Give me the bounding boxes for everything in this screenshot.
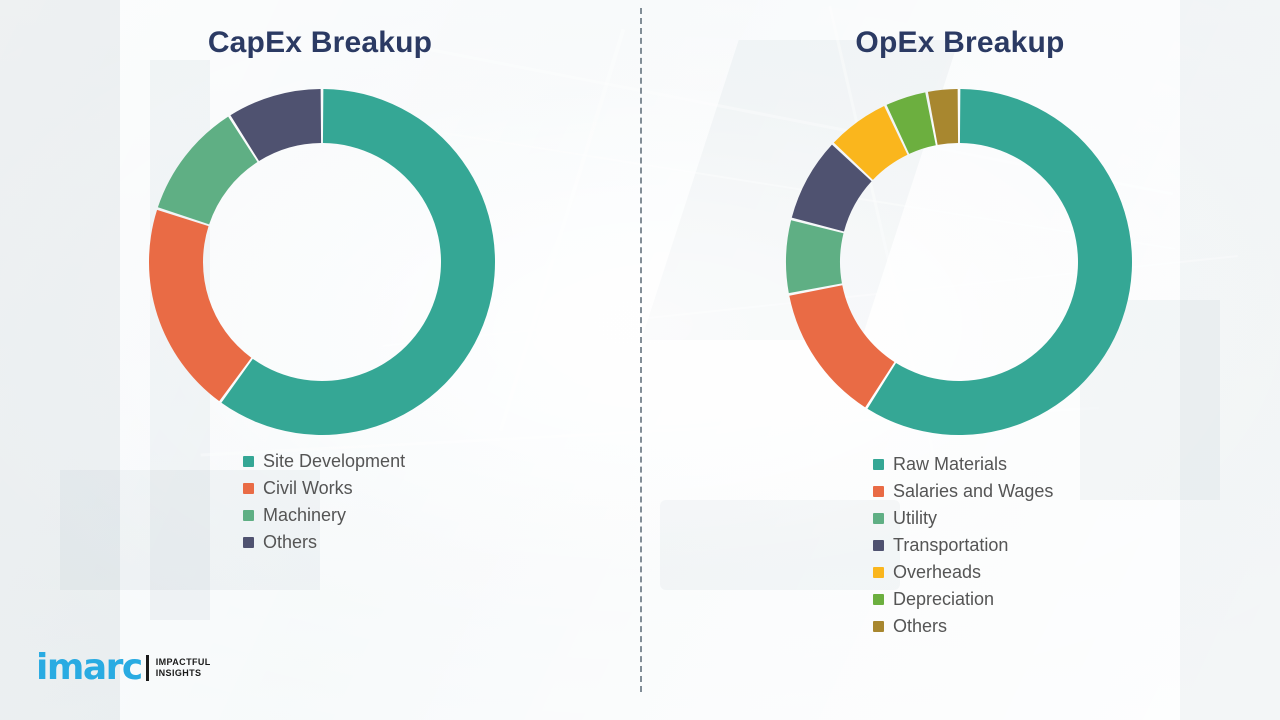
- legend-swatch-icon: [873, 513, 884, 524]
- legend-label: Raw Materials: [893, 453, 1007, 475]
- opex-chart-title: OpEx Breakup: [640, 26, 1280, 60]
- legend-label: Machinery: [263, 504, 346, 526]
- legend-item[interactable]: Civil Works: [243, 477, 405, 499]
- legend-swatch-icon: [873, 459, 884, 470]
- legend-item[interactable]: Others: [873, 615, 1053, 637]
- opex-donut-chart: [785, 88, 1133, 436]
- logo-wordmark: imarc: [36, 650, 142, 686]
- legend-swatch-icon: [873, 486, 884, 497]
- legend-item[interactable]: Machinery: [243, 504, 405, 526]
- legend-item[interactable]: Depreciation: [873, 588, 1053, 610]
- legend-item[interactable]: Site Development: [243, 450, 405, 472]
- legend-label: Civil Works: [263, 477, 353, 499]
- opex-slice-group: [786, 89, 1132, 435]
- legend-label: Depreciation: [893, 588, 994, 610]
- logo-tagline-line1: IMPACTFUL: [156, 657, 211, 668]
- capex-donut-chart: [148, 88, 496, 436]
- legend-swatch-icon: [873, 621, 884, 632]
- legend-swatch-icon: [243, 537, 254, 548]
- legend-swatch-icon: [243, 483, 254, 494]
- legend-swatch-icon: [873, 567, 884, 578]
- opex-donut-svg: [785, 88, 1133, 436]
- legend-item[interactable]: Utility: [873, 507, 1053, 529]
- legend-label: Others: [263, 531, 317, 553]
- legend-label: Utility: [893, 507, 937, 529]
- legend-label: Others: [893, 615, 947, 637]
- logo-divider-icon: [146, 655, 149, 681]
- legend-item[interactable]: Others: [243, 531, 405, 553]
- legend-item[interactable]: Raw Materials: [873, 453, 1053, 475]
- legend-label: Overheads: [893, 561, 981, 583]
- panel-divider: [640, 8, 642, 692]
- legend-item[interactable]: Overheads: [873, 561, 1053, 583]
- capex-legend: Site Development Civil Works Machinery O…: [243, 450, 405, 558]
- legend-label: Salaries and Wages: [893, 480, 1053, 502]
- capex-panel: CapEx Breakup Site Development Civil Wor…: [0, 0, 640, 720]
- capex-slice-group: [149, 89, 495, 435]
- opex-legend: Raw Materials Salaries and Wages Utility…: [873, 453, 1053, 642]
- legend-swatch-icon: [243, 456, 254, 467]
- capex-donut-svg: [148, 88, 496, 436]
- legend-swatch-icon: [243, 510, 254, 521]
- donut-slice[interactable]: [786, 220, 844, 293]
- imarc-logo: imarc IMPACTFUL INSIGHTS: [36, 650, 211, 686]
- donut-slice[interactable]: [789, 285, 894, 407]
- legend-item[interactable]: Salaries and Wages: [873, 480, 1053, 502]
- legend-swatch-icon: [873, 540, 884, 551]
- opex-panel: OpEx Breakup Raw Materials Salaries and …: [640, 0, 1280, 720]
- legend-swatch-icon: [873, 594, 884, 605]
- capex-chart-title: CapEx Breakup: [0, 26, 640, 60]
- legend-label: Transportation: [893, 534, 1008, 556]
- logo-tagline-line2: INSIGHTS: [156, 668, 211, 679]
- donut-slice[interactable]: [149, 210, 251, 401]
- legend-item[interactable]: Transportation: [873, 534, 1053, 556]
- legend-label: Site Development: [263, 450, 405, 472]
